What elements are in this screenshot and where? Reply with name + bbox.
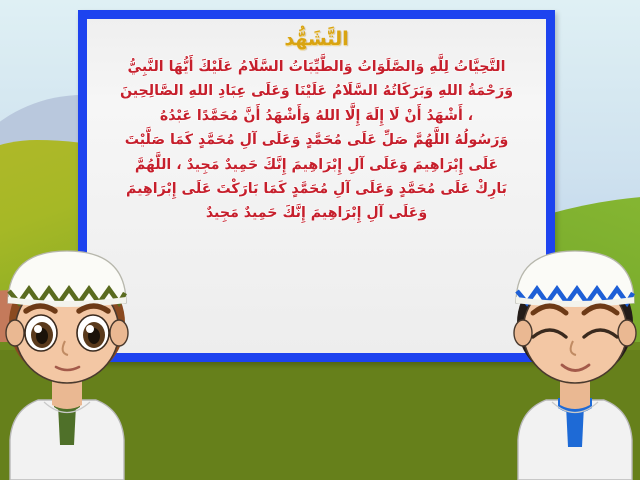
boy-left-cap [8,251,126,307]
boy-left-thobe [10,400,124,480]
lesson-board: التَّشَهُّد التَّحِيَّاتُ لِلَّهِ وَالصَ… [78,10,555,362]
board-paper: التَّشَهُّد التَّحِيَّاتُ لِلَّهِ وَالصَ… [87,19,546,353]
character-boy-right [500,245,640,480]
board-line: التَّحِيَّاتُ لِلَّهِ وَالصَّلَوَاتُ وَا… [101,55,532,79]
boy-right-thobe [518,398,632,480]
board-line: ، أَشْهَدُ أَنْ لَا إِلَهَ إِلَّا اللهُ … [101,104,532,128]
boy-right-cap [516,251,634,307]
board-line: وَرَسُولُهُ اللَّهُمَّ صَلِّ عَلَى مُحَم… [101,128,532,152]
board-line: عَلَى إِبْرَاهِيمَ وَعَلَى آلِ إِبْرَاهِ… [101,153,532,177]
slide-scene: التَّشَهُّد التَّحِيَّاتُ لِلَّهِ وَالصَ… [0,0,640,480]
character-boy-left [0,245,142,480]
board-line: وَرَحْمَةُ اللهِ وَبَرَكَاتُهُ السَّلَام… [101,79,532,103]
board-title: التَّشَهُّد [284,29,348,50]
board-line: وَعَلَى آلِ إِبْرَاهِيمَ إِنَّكَ حَمِيدٌ… [101,201,532,225]
board-body-text: التَّحِيَّاتُ لِلَّهِ وَالصَّلَوَاتُ وَا… [101,55,532,226]
board-line: بَارِكْ عَلَى مُحَمَّدٍ وَعَلَى آلِ مُحَ… [101,177,532,201]
